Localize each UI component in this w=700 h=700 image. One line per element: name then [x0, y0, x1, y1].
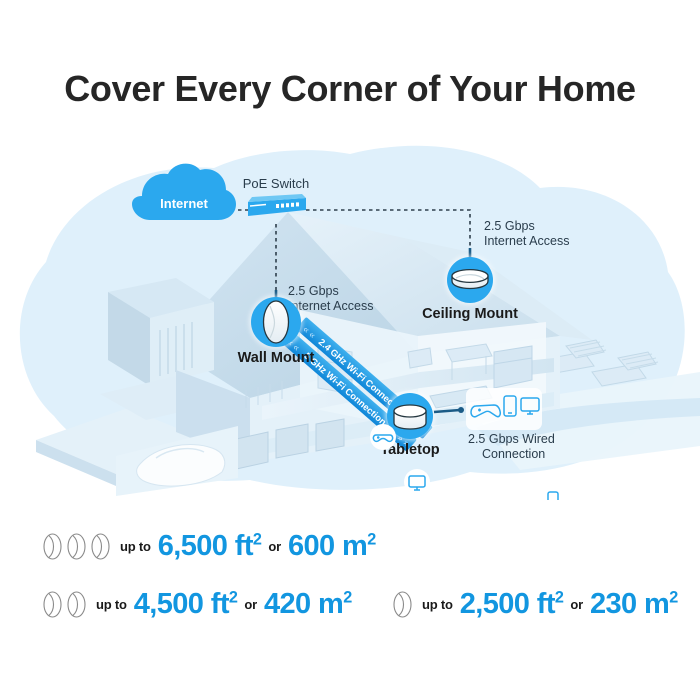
- mesh-unit-icon: [42, 590, 63, 619]
- coverage-or-label: or: [570, 597, 583, 612]
- coverage-unit-icons: [392, 590, 413, 619]
- mesh-unit-icon: [66, 590, 87, 619]
- coverage-row-3-pack: up to 6,500 ft2 or 600 m2: [42, 530, 376, 563]
- coverage-row-1-pack: up to 2,500 ft2 or 230 m2: [392, 588, 678, 621]
- wall-uplink-line1: 2.5 Gbps: [288, 284, 339, 298]
- wall-mount-label: Wall Mount: [238, 350, 315, 366]
- wall-uplink-line2: Internet Access: [288, 299, 373, 313]
- mesh-unit-icon: [66, 532, 87, 561]
- mesh-unit-icon: [90, 532, 111, 561]
- page-title: Cover Every Corner of Your Home: [0, 68, 700, 110]
- page-root: Cover Every Corner of Your Home: [0, 0, 700, 700]
- ceiling-uplink-line1: 2.5 Gbps: [484, 219, 535, 233]
- coverage-sqm-value: 420 m2: [264, 588, 352, 621]
- coverage-sqm-value: 230 m2: [590, 588, 678, 621]
- internet-label: Internet: [160, 196, 208, 211]
- ceiling-mount-label: Ceiling Mount: [422, 306, 518, 322]
- wired-label-line2: Connection: [482, 447, 545, 461]
- coverage-upto-label: up to: [96, 597, 127, 612]
- coverage-sqft-value: 4,500 ft2: [134, 588, 238, 621]
- home-coverage-diagram: Internet PoE Switch 2.5 Gbps Internet Ac…: [0, 140, 700, 500]
- coverage-unit-icons: [42, 590, 87, 619]
- ceiling-uplink-line2: Internet Access: [484, 234, 569, 248]
- coverage-or-label: or: [244, 597, 257, 612]
- coverage-or-label: or: [268, 539, 281, 554]
- client-badge-gamepad: [370, 424, 396, 450]
- wired-label-line1: 2.5 Gbps Wired: [468, 432, 555, 446]
- coverage-sqm-value: 600 m2: [288, 530, 376, 563]
- coverage-sqft-value: 2,500 ft2: [460, 588, 564, 621]
- poe-switch-label: PoE Switch: [243, 176, 309, 191]
- mesh-unit-icon: [42, 532, 63, 561]
- client-badge-phone-patio: [540, 486, 566, 500]
- coverage-sqft-value: 6,500 ft2: [158, 530, 262, 563]
- diagram-canvas: Internet PoE Switch 2.5 Gbps Internet Ac…: [0, 140, 700, 500]
- mesh-unit-icon: [392, 590, 413, 619]
- coverage-unit-icons: [42, 532, 111, 561]
- client-badge-monitor: [404, 469, 430, 495]
- coverage-upto-label: up to: [422, 597, 453, 612]
- coverage-upto-label: up to: [120, 539, 151, 554]
- coverage-row-2-pack: up to 4,500 ft2 or 420 m2: [42, 588, 352, 621]
